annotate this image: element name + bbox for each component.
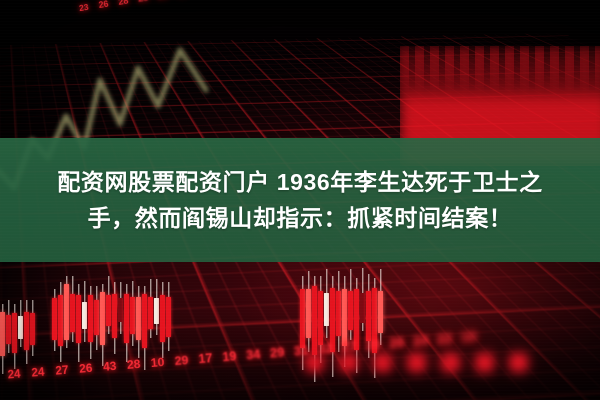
blurred-digit-glow	[510, 354, 527, 371]
candlestick-body	[82, 302, 87, 329]
candlestick-body	[318, 291, 323, 345]
headline-line-1: 配资网股票配资门户 1936年李生达死于卫士之	[57, 167, 542, 197]
candlestick-body	[336, 291, 341, 336]
candlestick-body	[130, 297, 135, 334]
candlestick-body	[136, 297, 141, 340]
axis-label: 24	[26, 365, 51, 380]
candlestick-group-center	[52, 244, 172, 364]
candlestick-body	[118, 298, 123, 322]
blurred-digit-glow	[476, 354, 493, 371]
candlestick-body	[142, 294, 147, 348]
axis-label: 28	[121, 356, 146, 372]
candlestick-body	[64, 284, 69, 340]
candlestick-body	[106, 295, 111, 325]
blurred-digit-glow	[408, 354, 425, 371]
candlestick-body	[58, 295, 63, 346]
axis-label: 43	[97, 358, 122, 374]
axis-label: 29	[169, 353, 194, 369]
axis-label: 10	[145, 355, 170, 371]
candlestick-body	[76, 295, 81, 343]
candlestick-body	[18, 316, 23, 338]
blurred-digit-glow	[340, 354, 357, 371]
candlestick-body	[30, 313, 35, 345]
candlestick-group-left	[0, 274, 36, 366]
candlestick-body	[24, 312, 29, 350]
candlestick-body	[112, 294, 117, 339]
axis-label: 17	[193, 351, 218, 367]
candlestick-body	[148, 297, 153, 329]
candlestick-body	[154, 298, 159, 324]
blurred-digit-glow	[442, 354, 459, 371]
blurred-digit-glow	[374, 354, 391, 371]
candlestick-body	[366, 291, 371, 341]
blurred-digit-glows	[300, 340, 600, 384]
candlestick-body	[324, 293, 329, 327]
candlestick-body	[0, 312, 5, 357]
axis-label: 19	[217, 349, 242, 365]
candlestick-body	[94, 300, 99, 335]
candlestick-body	[166, 297, 171, 337]
axis-label: 27	[49, 362, 74, 378]
blurred-digit-glow	[306, 354, 323, 371]
axis-label: 24	[2, 368, 27, 382]
axis-label: 26	[73, 360, 98, 376]
candlestick-body	[378, 291, 383, 333]
headline-text: 配资网股票配资门户 1936年李生达死于卫士之 手，然而阎锡山却指示：抓紧时间结…	[0, 138, 600, 262]
axis-label: 23	[73, 1, 94, 14]
candlestick-body	[52, 298, 57, 340]
candlestick-body	[348, 291, 353, 330]
candlestick-body	[160, 295, 165, 341]
candlestick-body	[124, 294, 129, 344]
candlestick-body	[6, 315, 11, 344]
axis-label: 34	[241, 346, 266, 363]
candlestick-body	[100, 292, 105, 345]
screenshot-root: 2326282821302729 24242726432810291719342…	[0, 0, 600, 400]
axis-label: 26	[93, 0, 114, 11]
candlestick-body	[360, 293, 365, 323]
candlestick-body	[12, 313, 17, 353]
candlestick-body	[70, 294, 75, 332]
headline-line-2: 手，然而阎锡山却指示：抓紧时间结案！	[88, 203, 513, 233]
candlestick-body	[88, 295, 93, 341]
candlestick-body	[306, 289, 311, 338]
axis-label: 29	[265, 344, 290, 361]
